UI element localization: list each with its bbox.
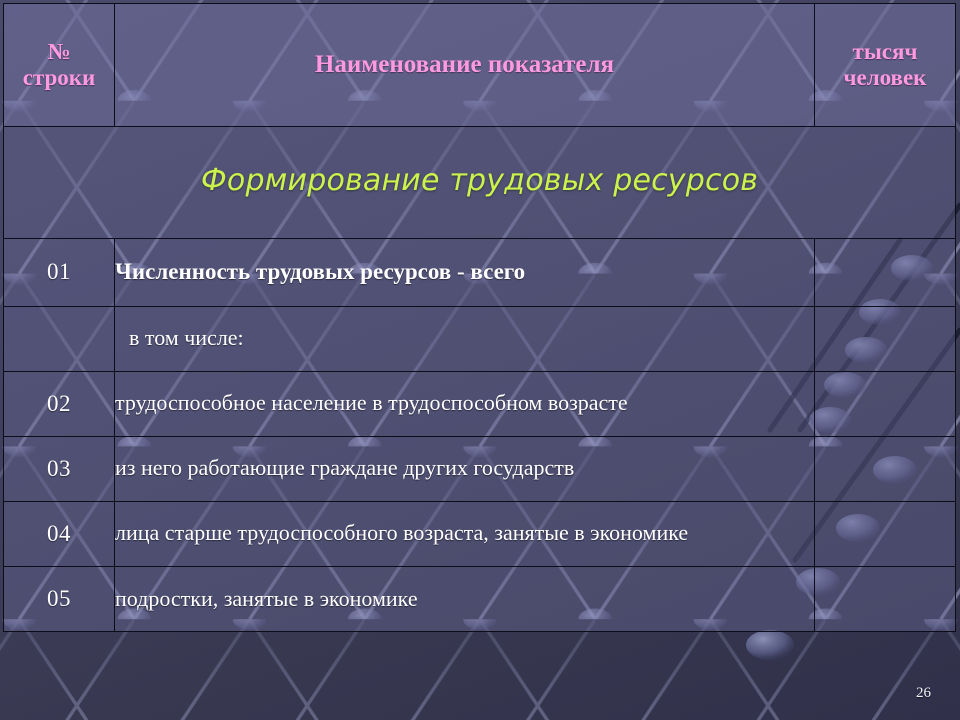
header-cell-units: тысяч человек bbox=[815, 4, 956, 127]
row-value-cell[interactable] bbox=[815, 306, 956, 371]
row-value-cell[interactable] bbox=[815, 436, 956, 501]
row-number-cell bbox=[4, 306, 115, 371]
row-name-cell: лица старше трудоспособного возраста, за… bbox=[115, 501, 815, 566]
row-name-cell: Численность трудовых ресурсов - всего bbox=[115, 238, 815, 306]
header-units-line1: тысяч bbox=[815, 39, 955, 65]
row-number-cell: 04 bbox=[4, 501, 115, 566]
row-value-cell[interactable] bbox=[815, 566, 956, 631]
header-cell-indicator-name: Наименование показателя bbox=[115, 4, 815, 127]
row-value-cell[interactable] bbox=[815, 501, 956, 566]
slide-canvas: № строки Наименование показателя тысяч ч… bbox=[0, 0, 960, 720]
row-name-cell: из него работающие граждане других госуд… bbox=[115, 436, 815, 501]
row-number-cell: 05 bbox=[4, 566, 115, 631]
table-header-row: № строки Наименование показателя тысяч ч… bbox=[4, 4, 956, 127]
indicators-table-wrapper: № строки Наименование показателя тысяч ч… bbox=[3, 3, 955, 632]
section-title-row: Формирование трудовых ресурсов bbox=[4, 126, 956, 238]
row-value-cell[interactable] bbox=[815, 371, 956, 436]
header-row-number-line2: строки bbox=[4, 65, 114, 91]
page-number: 26 bbox=[916, 685, 931, 702]
section-title-cell: Формирование трудовых ресурсов bbox=[4, 126, 956, 238]
row-number-cell: 03 bbox=[4, 436, 115, 501]
table-row: в том числе: bbox=[4, 306, 956, 371]
table-row: 01 Численность трудовых ресурсов - всего bbox=[4, 238, 956, 306]
table-row: 03 из него работающие граждане других го… bbox=[4, 436, 956, 501]
row-name-text: в том числе: bbox=[115, 325, 814, 352]
header-cell-row-number: № строки bbox=[4, 4, 115, 127]
section-title-text: Формирование трудовых ресурсов bbox=[201, 163, 758, 198]
table-row: 05 подростки, занятые в экономике bbox=[4, 566, 956, 631]
row-name-cell: в том числе: bbox=[115, 306, 815, 371]
labour-resources-table: № строки Наименование показателя тысяч ч… bbox=[3, 3, 956, 632]
table-row: 04 лица старше трудоспособного возраста,… bbox=[4, 501, 956, 566]
row-number-cell: 01 bbox=[4, 238, 115, 306]
row-value-cell[interactable] bbox=[815, 238, 956, 306]
row-number-cell: 02 bbox=[4, 371, 115, 436]
table-row: 02 трудоспособное население в трудоспосо… bbox=[4, 371, 956, 436]
row-name-cell: подростки, занятые в экономике bbox=[115, 566, 815, 631]
row-name-cell: трудоспособное население в трудоспособно… bbox=[115, 371, 815, 436]
header-units-line2: человек bbox=[815, 65, 955, 91]
header-row-number-line1: № bbox=[4, 39, 114, 65]
